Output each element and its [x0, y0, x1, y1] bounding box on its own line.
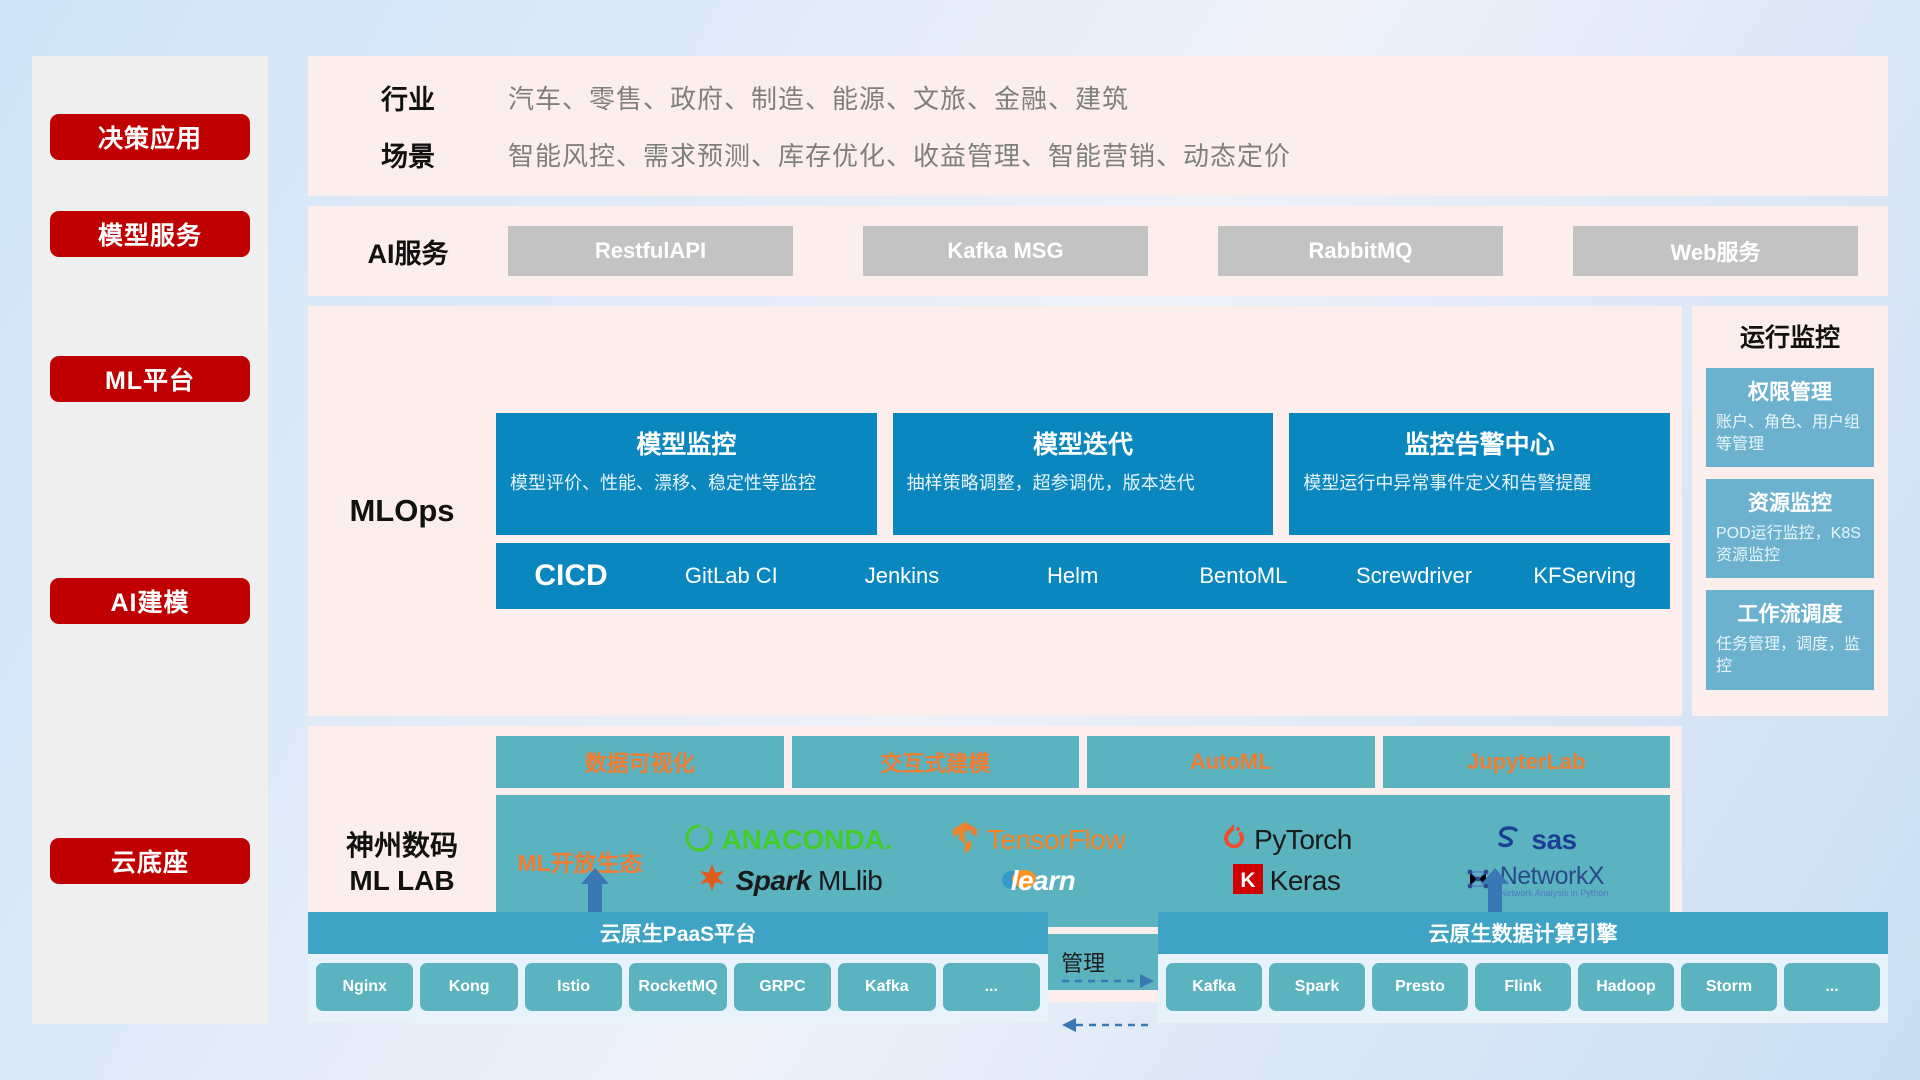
engine-chip-more[interactable]: ...	[1784, 963, 1880, 1011]
cloud-native-data-engine-group: 云原生数据计算引擎 Kafka Spark Presto Flink Hadoo…	[1158, 912, 1888, 1023]
card-title: 模型迭代	[907, 425, 1260, 461]
logo-text: sas	[1531, 824, 1576, 856]
paas-chip-more[interactable]: ...	[943, 963, 1040, 1011]
monitor-card-permission[interactable]: 权限管理 账户、角色、用户组等管理	[1706, 368, 1874, 467]
runtime-monitoring-title: 运行监控	[1706, 318, 1874, 354]
paas-chip-list: Nginx Kong Istio RocketMQ GRPC Kafka ...	[308, 954, 1048, 1015]
industry-label: 行业	[308, 78, 508, 117]
ml-platform-row: MLOps 模型监控 模型评价、性能、漂移、稳定性等监控 模型迭代 抽样策略调整…	[308, 306, 1888, 716]
mlops-card-alert-center[interactable]: 监控告警中心 模型运行中异常事件定义和告警提醒	[1289, 413, 1670, 535]
ai-service-chip-rabbitmq[interactable]: RabbitMQ	[1218, 226, 1503, 276]
card-title: 监控告警中心	[1303, 425, 1656, 461]
ai-service-label: AI服务	[308, 232, 508, 271]
cicd-tool-kfserving[interactable]: KFServing	[1499, 563, 1670, 588]
monitor-card-resource[interactable]: 资源监控 POD运行监控，K8S资源监控	[1706, 479, 1874, 578]
rail-label: 决策应用	[98, 119, 202, 155]
logo-text: NetworkX	[1500, 864, 1609, 889]
tensorflow-icon	[950, 821, 980, 860]
logo-pytorch[interactable]: PyTorch	[1221, 822, 1352, 859]
card-title: 权限管理	[1716, 376, 1864, 406]
mlops-content: 模型监控 模型评价、性能、漂移、稳定性等监控 模型迭代 抽样策略调整，超参调优，…	[496, 413, 1670, 609]
mlops-band: MLOps 模型监控 模型评价、性能、漂移、稳定性等监控 模型迭代 抽样策略调整…	[308, 306, 1682, 716]
engine-chip-kafka[interactable]: Kafka	[1166, 963, 1262, 1011]
cicd-tool-gitlab-ci[interactable]: GitLab CI	[646, 563, 817, 588]
card-title: 资源监控	[1716, 487, 1864, 517]
logo-text: ANACONDA.	[721, 824, 892, 856]
tab-data-visualization[interactable]: 数据可视化	[496, 736, 784, 788]
ml-lab-tab-list: 数据可视化 交互式建模 AutoML JupyterLab	[496, 736, 1670, 788]
rail-item-model-service[interactable]: 模型服务	[50, 211, 250, 257]
cloud-native-paas-group: 云原生PaaS平台 Nginx Kong Istio RocketMQ GRPC…	[308, 912, 1048, 1023]
mlops-card-model-monitoring[interactable]: 模型监控 模型评价、性能、漂移、稳定性等监控	[496, 413, 877, 535]
ai-service-chip-web-service[interactable]: Web服务	[1573, 226, 1858, 276]
engine-chip-flink[interactable]: Flink	[1475, 963, 1571, 1011]
tab-jupyterlab[interactable]: JupyterLab	[1383, 736, 1671, 788]
cloud-native-data-engine-title: 云原生数据计算引擎	[1158, 912, 1888, 954]
cicd-label: CICD	[496, 559, 646, 593]
rail-item-decision-apps[interactable]: 决策应用	[50, 114, 250, 160]
scenario-row: 场景 智能风控、需求预测、库存优化、收益管理、智能营销、动态定价	[308, 135, 1888, 174]
pytorch-icon	[1221, 822, 1247, 859]
industry-values: 汽车、零售、政府、制造、能源、文旅、金融、建筑	[508, 79, 1129, 116]
stack-layer-rail: 决策应用 模型服务 ML平台 AI建模 云底座	[32, 56, 268, 1024]
industry-row: 行业 汽车、零售、政府、制造、能源、文旅、金融、建筑	[308, 78, 1888, 117]
engine-chip-list: Kafka Spark Presto Flink Hadoop Storm ..…	[1158, 954, 1888, 1015]
paas-chip-istio[interactable]: Istio	[525, 963, 622, 1011]
paas-chip-kafka[interactable]: Kafka	[838, 963, 935, 1011]
decision-applications-band: 行业 汽车、零售、政府、制造、能源、文旅、金融、建筑 场景 智能风控、需求预测、…	[308, 56, 1888, 196]
tab-interactive-modeling[interactable]: 交互式建模	[792, 736, 1080, 788]
logo-anaconda[interactable]: ANACONDA.	[684, 823, 892, 858]
svg-text:K: K	[1240, 869, 1255, 892]
cloud-foundation-row: 云原生PaaS平台 Nginx Kong Istio RocketMQ GRPC…	[308, 890, 1888, 1030]
rail-label: 云底座	[111, 843, 189, 879]
engine-chip-hadoop[interactable]: Hadoop	[1578, 963, 1674, 1011]
arrow-left-dashed-icon	[1060, 1016, 1156, 1034]
runtime-monitoring-panel: 运行监控 权限管理 账户、角色、用户组等管理 资源监控 POD运行监控，K8S资…	[1692, 306, 1888, 716]
paas-chip-rocketmq[interactable]: RocketMQ	[629, 963, 726, 1011]
paas-chip-nginx[interactable]: Nginx	[316, 963, 413, 1011]
ai-service-band: AI服务 RestfulAPI Kafka MSG RabbitMQ Web服务	[308, 206, 1888, 296]
ai-service-chip-kafka-msg[interactable]: Kafka MSG	[863, 226, 1148, 276]
logo-sas[interactable]: sas	[1494, 823, 1576, 858]
card-desc: POD运行监控，K8S资源监控	[1716, 523, 1864, 566]
card-desc: 模型运行中异常事件定义和告警提醒	[1303, 471, 1656, 495]
card-desc: 任务管理，调度，监控	[1716, 634, 1864, 677]
ml-lab-label: 神州数码 ML LAB	[308, 828, 496, 898]
ml-lab-label-line1: 神州数码	[308, 828, 496, 863]
cicd-tool-helm[interactable]: Helm	[987, 563, 1158, 588]
mlops-card-model-iteration[interactable]: 模型迭代 抽样策略调整，超参调优，版本迭代	[893, 413, 1274, 535]
cloud-native-paas-title: 云原生PaaS平台	[308, 912, 1048, 954]
rail-label: ML平台	[105, 361, 195, 397]
card-desc: 模型评价、性能、漂移、稳定性等监控	[510, 471, 863, 495]
cicd-bar: CICD GitLab CI Jenkins Helm BentoML Scre…	[496, 543, 1670, 609]
rail-label: 模型服务	[98, 216, 202, 252]
cicd-tool-list: GitLab CI Jenkins Helm BentoML Screwdriv…	[646, 563, 1670, 588]
ai-service-chip-list: RestfulAPI Kafka MSG RabbitMQ Web服务	[508, 226, 1858, 276]
cicd-tool-bentoml[interactable]: BentoML	[1158, 563, 1329, 588]
card-desc: 抽样策略调整，超参调优，版本迭代	[907, 471, 1260, 495]
rail-label: AI建模	[110, 583, 189, 619]
paas-chip-kong[interactable]: Kong	[420, 963, 517, 1011]
card-title: 工作流调度	[1716, 598, 1864, 628]
logo-tensorflow[interactable]: TensorFlow	[950, 821, 1125, 860]
arrow-right-dashed-icon	[1060, 972, 1156, 990]
anaconda-icon	[684, 823, 714, 858]
mlops-card-list: 模型监控 模型评价、性能、漂移、稳定性等监控 模型迭代 抽样策略调整，超参调优，…	[496, 413, 1670, 535]
scenario-label: 场景	[308, 135, 508, 174]
ai-service-chip-restfulapi[interactable]: RestfulAPI	[508, 226, 793, 276]
engine-chip-spark[interactable]: Spark	[1269, 963, 1365, 1011]
logo-text: TensorFlow	[987, 824, 1125, 856]
mlops-label: MLOps	[308, 493, 496, 529]
arrow-up-engine-icon	[1478, 868, 1512, 916]
architecture-board: 行业 汽车、零售、政府、制造、能源、文旅、金融、建筑 场景 智能风控、需求预测、…	[308, 56, 1888, 1002]
rail-item-ai-modeling[interactable]: AI建模	[50, 578, 250, 624]
monitor-card-workflow[interactable]: 工作流调度 任务管理，调度，监控	[1706, 590, 1874, 689]
card-desc: 账户、角色、用户组等管理	[1716, 412, 1864, 455]
logo-text: PyTorch	[1254, 824, 1352, 856]
engine-chip-storm[interactable]: Storm	[1681, 963, 1777, 1011]
rail-item-cloud-base[interactable]: 云底座	[50, 838, 250, 884]
tab-automl[interactable]: AutoML	[1087, 736, 1375, 788]
rail-item-ml-platform[interactable]: ML平台	[50, 356, 250, 402]
card-title: 模型监控	[510, 425, 863, 461]
cicd-tool-screwdriver[interactable]: Screwdriver	[1329, 563, 1500, 588]
scenario-values: 智能风控、需求预测、库存优化、收益管理、智能营销、动态定价	[508, 136, 1291, 173]
paas-chip-grpc[interactable]: GRPC	[734, 963, 831, 1011]
cicd-tool-jenkins[interactable]: Jenkins	[817, 563, 988, 588]
sas-icon	[1494, 823, 1524, 858]
arrow-up-paas-icon	[578, 868, 612, 916]
engine-chip-presto[interactable]: Presto	[1372, 963, 1468, 1011]
